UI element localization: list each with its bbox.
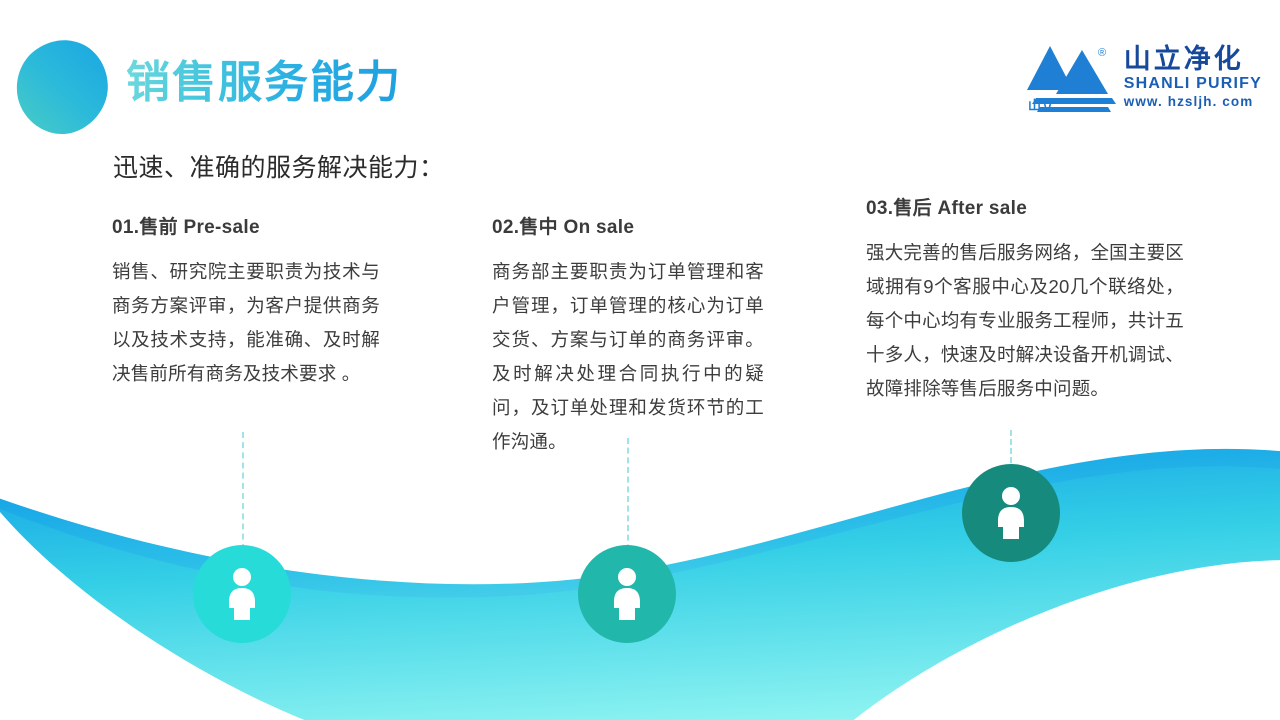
person-icon xyxy=(607,566,647,622)
mountain-logo-icon: 山立 ® xyxy=(1026,42,1118,114)
logo-company-en: SHANLI PURIFY xyxy=(1124,74,1262,93)
column-body: 商务部主要职责为订单管理和客户管理，订单管理的核心为订单交货、方案与订单的商务评… xyxy=(492,255,764,459)
connector-line-1 xyxy=(242,432,244,560)
slide-canvas: 销售服务能力 山立 ® 山立净化 SHANLI PURIFY www. hzsl… xyxy=(0,0,1280,720)
column-body: 强大完善的售后服务网络，全国主要区域拥有9个客服中心及20几个联络处，每个中心均… xyxy=(866,236,1184,406)
wave-corner-cut-left xyxy=(0,500,360,720)
registered-trademark-icon: ® xyxy=(1098,47,1106,59)
person-icon xyxy=(222,566,262,622)
wave-corner-cut-right xyxy=(830,560,1280,720)
column-heading: 01.售前 Pre-sale xyxy=(112,212,380,239)
content-column-after-sale: 03.售后 After sale 强大完善的售后服务网络，全国主要区域拥有9个客… xyxy=(866,193,1184,406)
content-column-on-sale: 02.售中 On sale 商务部主要职责为订单管理和客户管理，订单管理的核心为… xyxy=(492,212,764,459)
column-body: 销售、研究院主要职责为技术与商务方案评审，为客户提供商务以及技术支持，能准确、及… xyxy=(112,255,380,391)
logo-mark-label: 山立 xyxy=(1028,98,1054,113)
person-icon xyxy=(991,485,1031,541)
logo-text-block: 山立净化 SHANLI PURIFY www. hzsljh. com xyxy=(1124,44,1262,110)
company-logo: 山立 ® 山立净化 SHANLI PURIFY www. hzsljh. com xyxy=(1026,42,1262,114)
section-subtitle: 迅速、准确的服务解决能力： xyxy=(113,148,445,184)
column-heading: 03.售后 After sale xyxy=(866,193,1184,220)
person-badge-on-sale xyxy=(578,545,676,643)
content-column-pre-sale: 01.售前 Pre-sale 销售、研究院主要职责为技术与商务方案评审，为客户提… xyxy=(112,212,380,391)
logo-website: www. hzsljh. com xyxy=(1124,93,1254,110)
column-heading: 02.售中 On sale xyxy=(492,212,764,239)
person-badge-pre-sale xyxy=(193,545,291,643)
person-badge-after-sale xyxy=(962,464,1060,562)
page-title: 销售服务能力 xyxy=(126,54,402,112)
logo-company-cn: 山立净化 xyxy=(1124,44,1244,74)
decorative-blob-icon xyxy=(14,38,114,138)
